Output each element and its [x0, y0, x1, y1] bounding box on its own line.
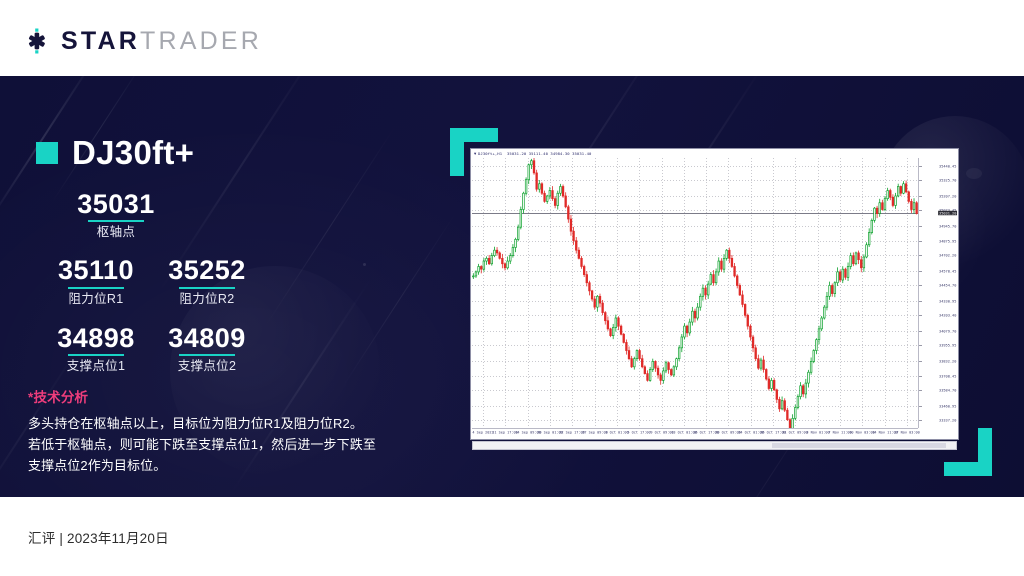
- price-tick-mark: [919, 390, 922, 391]
- metric-value: 34898: [36, 324, 156, 352]
- metric-label: 支撑点位1: [36, 359, 156, 374]
- price-tick-label: 35207.20: [938, 193, 957, 198]
- time-tick-label: 4 Sep 2023: [473, 430, 494, 434]
- chart-symbol-icon: ▾: [474, 151, 476, 157]
- metric-underline: [68, 287, 124, 289]
- header-bar: STARTRADER: [0, 0, 1024, 76]
- price-tick-mark: [919, 241, 922, 242]
- chart-horizontal-scrollbar[interactable]: [472, 441, 957, 450]
- corner-bracket-bottom-right: [978, 428, 992, 476]
- price-tick-mark: [919, 345, 922, 346]
- decor-crater: [966, 168, 982, 179]
- metric-resistance-2: 35252 阻力位R2: [156, 256, 258, 306]
- price-tick-mark: [919, 315, 922, 316]
- metric-value: 34809: [156, 324, 258, 352]
- analysis-line: 若低于枢轴点，则可能下跌至支撑点位1，然后进一步下跌至: [28, 434, 418, 455]
- price-tick-mark: [919, 331, 922, 332]
- symbol-title: DJ30ft+: [72, 136, 194, 169]
- time-tick-label: 22 Sep 17:00: [560, 430, 585, 434]
- candlestick-series: [472, 158, 918, 428]
- price-tick-mark: [919, 196, 922, 197]
- chart-header-title: DJ30ft+,H1: [478, 151, 502, 156]
- scrollbar-thumb[interactable]: [772, 443, 946, 448]
- pivot-metrics: 35031 枢轴点 35110 阻力位R1 35252 阻力位R2 34898 …: [36, 190, 416, 374]
- price-tick-label: 35325.70: [938, 178, 957, 183]
- price-tick-mark: [919, 226, 922, 227]
- price-tick-label: 34578.45: [938, 268, 957, 273]
- chart-plot-area[interactable]: [472, 158, 918, 428]
- support-row: 34898 支撑点位1 34809 支撑点位2: [36, 324, 416, 374]
- slide-canvas: STARTRADER DJ30ft+ 35031: [0, 0, 1024, 576]
- analysis-heading: *技术分析: [28, 390, 418, 406]
- analysis-body: 多头持仓在枢轴点以上，目标位为阻力位R1及阻力位R2。 若低于枢轴点，则可能下跌…: [28, 413, 418, 476]
- metric-value: 35031: [56, 190, 176, 218]
- metric-support-1: 34898 支撑点位1: [36, 324, 156, 374]
- time-tick-label: 7 Nov 11:00: [828, 430, 851, 434]
- price-tick-label: 33584.70: [938, 388, 957, 393]
- metric-label: 支撑点位2: [156, 359, 258, 374]
- price-tick-mark: [919, 210, 922, 211]
- price-tick-mark: [919, 166, 922, 167]
- price-tick-label: 33832.20: [938, 358, 957, 363]
- brand-wordmark: STARTRADER: [61, 29, 262, 54]
- metric-pivot: 35031 枢轴点: [56, 190, 176, 240]
- metric-underline: [68, 354, 124, 356]
- time-tick-label: 10 Nov 03:00: [850, 430, 875, 434]
- time-tick-label: 9 Oct 09:00: [650, 430, 673, 434]
- price-tick-label: 34454.70: [938, 283, 957, 288]
- time-tick-label: 5 Oct 17:00: [628, 430, 651, 434]
- price-tick-label: 34330.95: [938, 298, 957, 303]
- chart-header-ohlc: 35031.20 35111.40 34984.30 35031.40: [507, 151, 591, 156]
- page-title: DJ30ft+: [36, 136, 194, 169]
- time-tick-label: 3 Nov 01:00: [806, 430, 829, 434]
- analysis-line: 多头持仓在枢轴点以上，目标位为阻力位R1及阻力位R2。: [28, 413, 418, 434]
- technical-analysis-block: *技术分析 多头持仓在枢轴点以上，目标位为阻力位R1及阻力位R2。 若低于枢轴点…: [28, 390, 418, 476]
- price-axis[interactable]: 35440.4535325.7035207.2035073.4534945.70…: [918, 158, 958, 428]
- price-tick-mark: [919, 376, 922, 377]
- resistance-row: 35110 阻力位R1 35252 阻力位R2: [36, 256, 416, 306]
- metric-value: 35252: [156, 256, 258, 284]
- metric-support-2: 34809 支撑点位2: [156, 324, 258, 374]
- price-tick-label: 34702.20: [938, 253, 957, 258]
- current-price-tag: 35031.20: [938, 211, 957, 216]
- metric-underline: [88, 220, 144, 222]
- pivot-row: 35031 枢轴点: [36, 190, 416, 240]
- chart-header: ▾ DJ30ft+,H1 35031.20 35111.40 34984.30 …: [471, 149, 958, 158]
- price-tick-mark: [919, 271, 922, 272]
- price-tick-mark: [919, 420, 922, 421]
- analysis-line: 支撑点位2作为目标位。: [28, 455, 418, 476]
- price-tick-label: 34079.70: [938, 328, 957, 333]
- price-chart-panel[interactable]: ▾ DJ30ft+,H1 35031.20 35111.40 34984.30 …: [470, 148, 959, 440]
- brand-name-light: TRADER: [140, 27, 262, 55]
- price-tick-mark: [919, 361, 922, 362]
- title-square-bullet: [36, 142, 58, 164]
- corner-bracket-top-left: [450, 128, 464, 176]
- footer-caption: 汇评 | 2023年11月20日: [28, 527, 169, 547]
- brand-logo[interactable]: STARTRADER: [22, 26, 262, 56]
- price-tick-mark: [919, 255, 922, 256]
- price-tick-label: 35440.45: [938, 163, 957, 168]
- metric-value: 35110: [36, 256, 156, 284]
- metric-underline: [179, 287, 235, 289]
- time-tick-label: 27 Sep 09:00: [582, 430, 607, 434]
- time-tick-label: 17 Nov 03:00: [894, 430, 919, 434]
- price-tick-label: 34945.70: [938, 223, 957, 228]
- price-tick-mark: [919, 285, 922, 286]
- metric-label: 阻力位R2: [156, 292, 258, 307]
- price-tick-mark: [919, 180, 922, 181]
- price-tick-label: 34875.95: [938, 238, 957, 243]
- time-tick-label: 3 Oct 01:00: [605, 430, 628, 434]
- price-tick-label: 33337.20: [938, 418, 957, 423]
- time-tick-label: 31 Oct 09:00: [783, 430, 808, 434]
- price-tick-label: 33708.45: [938, 373, 957, 378]
- time-axis[interactable]: 4 Sep 202311 Sep 17:0014 Sep 09:0020 Sep…: [472, 428, 918, 439]
- metric-underline: [179, 354, 235, 356]
- metric-label: 阻力位R1: [36, 292, 156, 307]
- price-tick-mark: [919, 301, 922, 302]
- six-point-asterisk-icon: [22, 26, 52, 56]
- price-tick-label: 33955.95: [938, 343, 957, 348]
- metric-resistance-1: 35110 阻力位R1: [36, 256, 156, 306]
- price-tick-label: 34203.40: [938, 313, 957, 318]
- brand-name-strong: STAR: [61, 27, 140, 55]
- price-tick-mark: [919, 406, 922, 407]
- metric-label: 枢轴点: [56, 225, 176, 240]
- price-tick-label: 33460.95: [938, 403, 957, 408]
